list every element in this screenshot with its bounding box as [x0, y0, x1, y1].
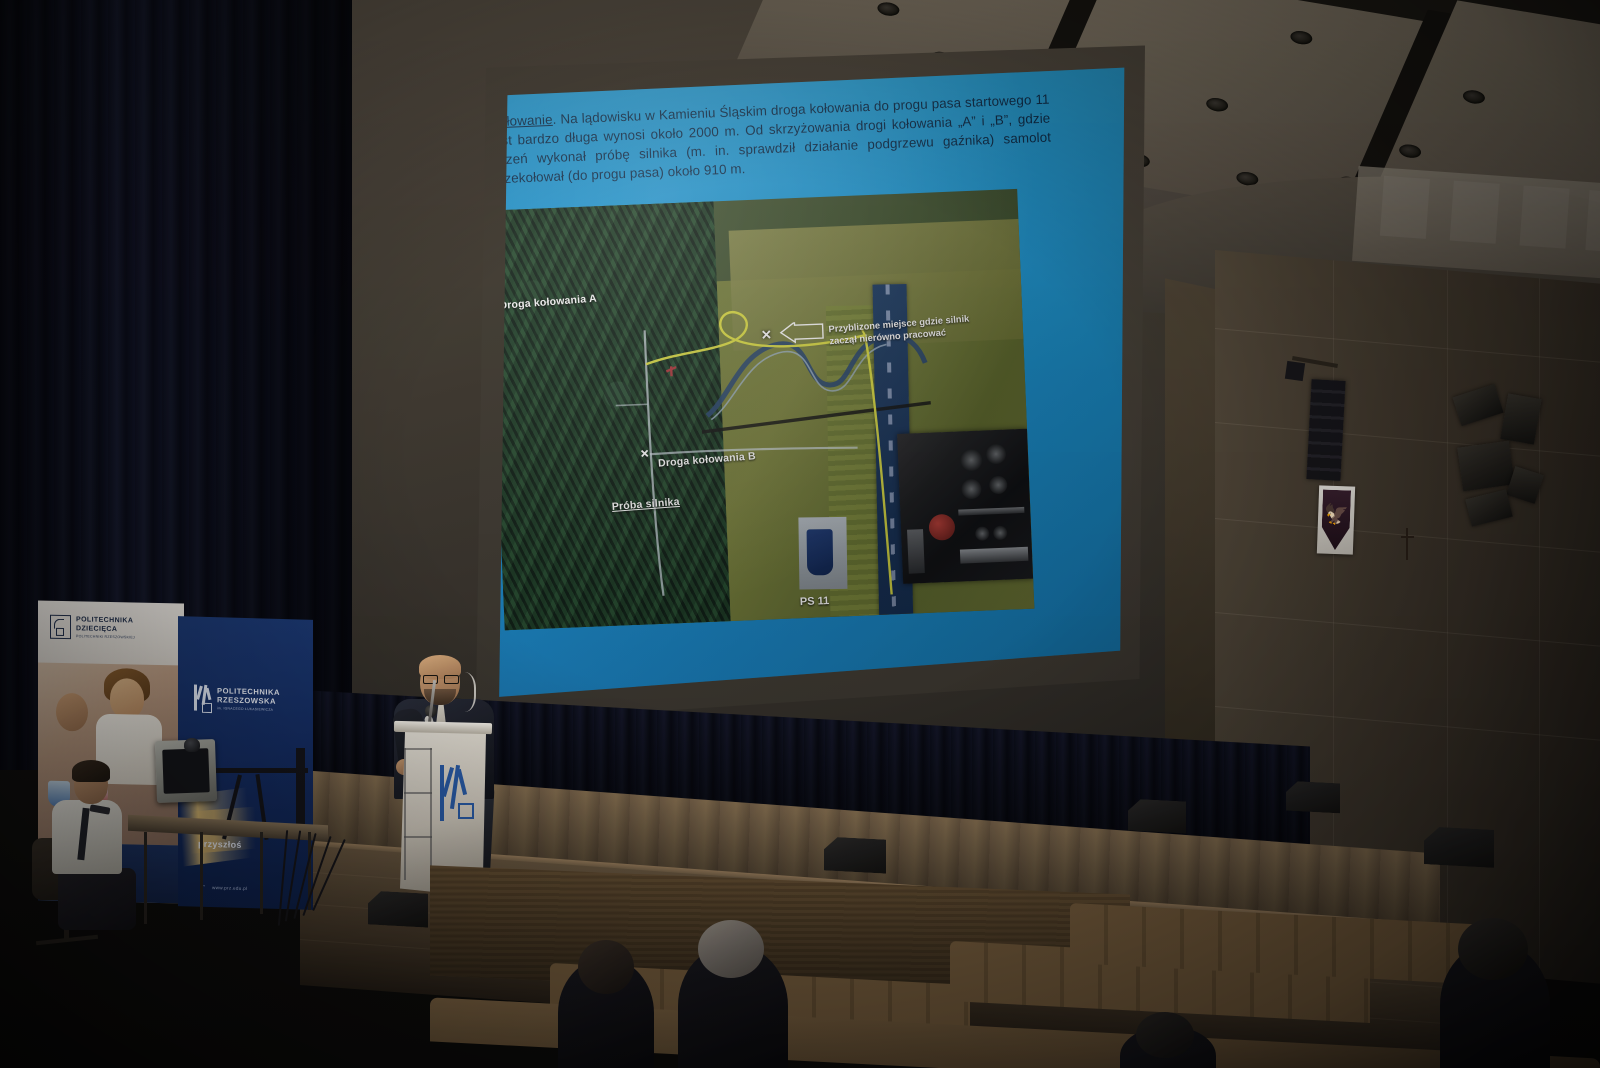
operator-person — [50, 764, 140, 934]
stage-monitor-speaker — [824, 836, 886, 873]
crucifix-icon — [1400, 528, 1414, 560]
stage-monitor-speaker — [1424, 826, 1494, 868]
projection-screen: Kołowanie. Na lądowisku w Kamieniu Śląsk… — [455, 40, 1145, 730]
speaker-mount-bracket — [1285, 361, 1305, 381]
stage-lighting-rig — [1448, 390, 1568, 550]
cockpit-inset-photo — [897, 429, 1033, 584]
stage-monitor-speaker — [368, 890, 428, 927]
prz-logo-mark — [194, 685, 212, 712]
audience-head — [1136, 1012, 1194, 1058]
prz-logo — [440, 765, 474, 823]
line-array-speaker — [1306, 379, 1345, 481]
slide-body: Na lądowisku w Kamieniu Śląskim droga ko… — [490, 92, 1051, 187]
polish-eagle-emblem: 🦅 — [1317, 485, 1355, 554]
prz-logo: POLITECHNIKA RZESZOWSKA im. IGNACEGO ŁUK… — [194, 685, 280, 713]
pd-logo-sub: POLITECHNIKI RZESZOWSKIEJ — [76, 634, 135, 639]
presentation-slide: Kołowanie. Na lądowisku w Kamieniu Śląsk… — [455, 40, 1145, 730]
prz-logo-sub: im. IGNACEGO ŁUKASIEWICZA — [217, 706, 280, 712]
audience-head — [578, 940, 634, 994]
eagle-icon: 🦅 — [1323, 504, 1349, 525]
stage-monitor-speaker — [1128, 798, 1186, 833]
aerial-airfield-photo: Droga kołowania A Droga kołowania B Prób… — [488, 189, 1035, 630]
pd-logo: POLITECHNIKA DZIECIĘCA POLITECHNIKI RZES… — [50, 615, 135, 641]
slide-text-block: Kołowanie. Na lądowisku w Kamieniu Śląsk… — [490, 90, 1053, 189]
microphone-cable — [448, 672, 476, 712]
arrow-icon — [778, 321, 825, 345]
audience-area — [430, 900, 1600, 1068]
cable-bundle — [276, 830, 346, 930]
audience-head — [698, 920, 764, 978]
camera-icon — [184, 738, 200, 752]
apron-ps11 — [798, 517, 847, 590]
annotation-ps11: PS 11 — [800, 595, 830, 608]
screenshot-root: 🦅 Kołowanie. Na lądowisku w Kamieniu Ślą… — [0, 0, 1600, 1068]
pd-logo-mark — [50, 615, 71, 639]
pd-logo-line2: DZIECIĘCA — [76, 625, 135, 634]
audience-head — [1458, 918, 1528, 980]
prz-logo-line2: RZESZOWSKA — [217, 695, 280, 706]
x-marker-icon: ✕ — [761, 327, 773, 343]
lectern-top — [394, 721, 492, 734]
stage-monitor-speaker — [1286, 781, 1340, 814]
